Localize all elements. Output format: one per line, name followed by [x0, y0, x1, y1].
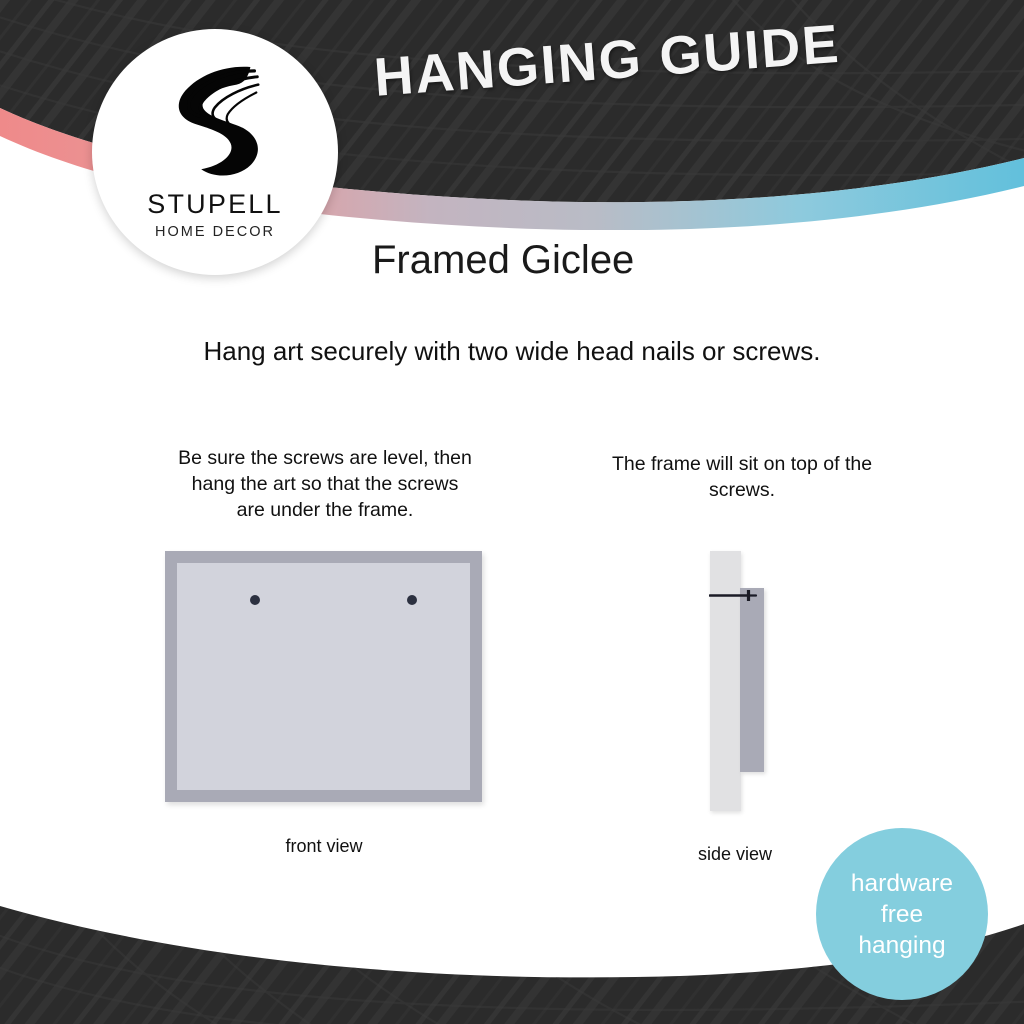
- nail-icon: [709, 590, 758, 601]
- front-view-diagram: [165, 551, 482, 802]
- page-title: HANGING GUIDE: [372, 13, 842, 109]
- hardware-free-hanging-badge: hardware free hanging: [816, 828, 988, 1000]
- side-view-frame: [740, 588, 764, 772]
- product-type-label: Framed Giclee: [372, 238, 634, 283]
- front-view-label: front view: [174, 836, 474, 857]
- brand-name: STUPELL: [147, 189, 282, 220]
- brand-tagline: HOME DECOR: [155, 224, 275, 240]
- main-instruction-text: Hang art securely with two wide head nai…: [0, 336, 1024, 367]
- badge-line-1: hardware: [851, 868, 953, 899]
- side-view-diagram: [700, 545, 780, 810]
- stupell-swirl-logo-icon: [156, 59, 274, 187]
- front-view-caption: Be sure the screws are level, then hang …: [175, 445, 475, 523]
- side-view-label: side view: [640, 844, 830, 865]
- side-view-caption: The frame will sit on top of the screws.: [592, 451, 892, 503]
- screw-dot-right-icon: [407, 595, 417, 605]
- front-view-artwork-area: [177, 563, 470, 790]
- screw-dot-left-icon: [250, 595, 260, 605]
- badge-line-2: free: [881, 899, 923, 930]
- badge-line-3: hanging: [858, 930, 945, 961]
- hanging-guide-page: STUPELL HOME DECOR HANGING GUIDE Framed …: [0, 0, 1024, 1024]
- brand-logo-badge: STUPELL HOME DECOR: [92, 29, 338, 275]
